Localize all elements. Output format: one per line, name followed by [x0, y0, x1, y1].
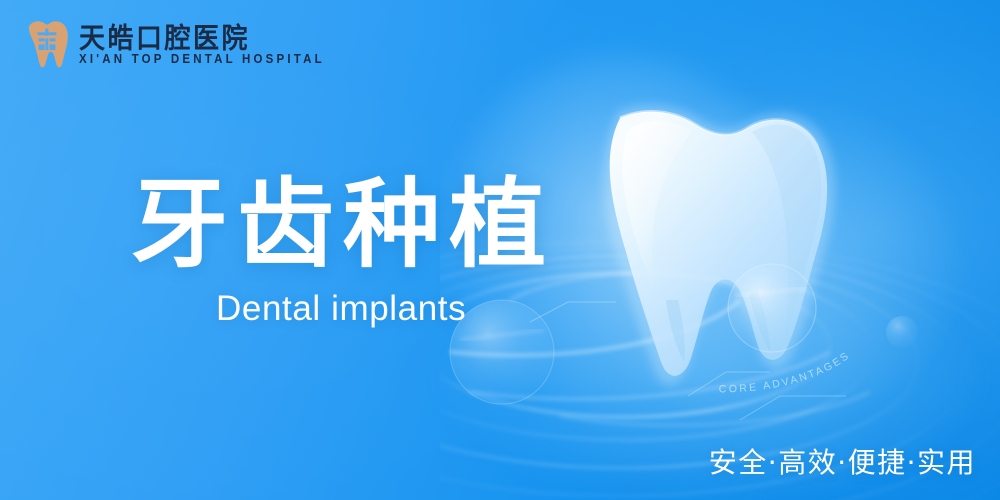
headline-block: 牙齿种植 Dental implants — [131, 176, 651, 326]
tooth-rim-light — [620, 112, 819, 147]
page-title: 牙齿种植 — [131, 176, 651, 273]
tooth-logo-icon — [24, 18, 70, 74]
tooth-root-crease-left — [666, 300, 685, 362]
hospital-logo[interactable]: 天皓口腔医院 XI'AN TOP DENTAL HOSPITAL — [24, 18, 325, 74]
tooth-shade — [752, 125, 821, 340]
dental-implant-banner: CORE ADVANTAGES 天皓口腔医院 XI'AN TOP DENTAL … — [0, 0, 1000, 500]
ring-label: CORE ADVANTAGES — [719, 349, 853, 395]
tagline: 安全·高效·便捷·实用 — [709, 449, 976, 477]
tooth-root-crease-right — [749, 292, 770, 352]
logo-name-en: XI'AN TOP DENTAL HOSPITAL — [79, 54, 325, 67]
logo-text-block: 天皓口腔医院 XI'AN TOP DENTAL HOSPITAL — [79, 26, 325, 67]
logo-name-cn: 天皓口腔医院 — [79, 25, 325, 53]
page-subtitle: Dental implants — [216, 291, 651, 326]
